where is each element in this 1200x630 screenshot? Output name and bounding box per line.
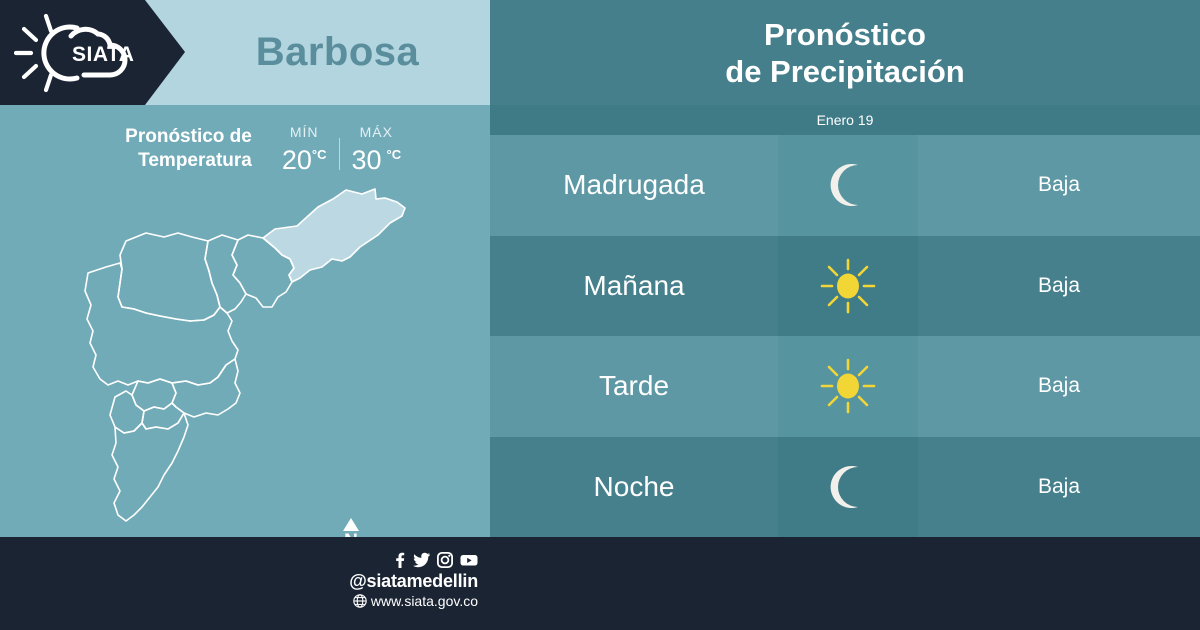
social-icons	[330, 552, 478, 568]
map-municipality-envigado[interactable]	[172, 359, 240, 417]
forecast-date: Enero 19	[490, 105, 1200, 135]
moon-icon	[823, 160, 873, 210]
forecast-probability-label: Baja	[1038, 173, 1080, 197]
forecast-period-cell: Tarde	[490, 336, 778, 437]
forecast-probability-cell: Baja	[918, 336, 1200, 437]
siata-logo-text: SIATA	[72, 43, 134, 66]
left-header: SIATA Barbosa	[0, 0, 490, 105]
social-handle[interactable]: @siatamedellin	[330, 570, 478, 592]
temperature-min-value: 20	[282, 145, 312, 175]
youtube-icon[interactable]	[460, 552, 478, 568]
temperature-max: MÁX 30°C	[340, 124, 414, 174]
table-row[interactable]: Mañana	[490, 236, 1200, 337]
footer: @siatamedellin www.siata.gov.co Con el a…	[0, 537, 1200, 630]
forecast-probability-label: Baja	[1038, 374, 1080, 398]
facebook-icon[interactable]	[392, 552, 406, 568]
forecast-probability-cell: Baja	[918, 236, 1200, 337]
right-panel: Pronóstico de Precipitación Enero 19 Mad…	[490, 0, 1200, 537]
forecast-icon-cell	[778, 236, 918, 337]
temperature-title: Pronóstico de Temperatura	[77, 125, 252, 173]
moon-icon	[823, 462, 873, 512]
temperature-min-label: MÍN	[282, 124, 327, 140]
table-row[interactable]: Noche Baja	[490, 437, 1200, 538]
left-panel: SIATA Barbosa Pronóstico de Temperatura …	[0, 0, 490, 537]
forecast-period-label: Tarde	[599, 370, 669, 402]
weather-infographic: SIATA Barbosa Pronóstico de Temperatura …	[0, 0, 1200, 630]
temperature-min-value-wrap: 20°C	[282, 145, 327, 175]
globe-icon	[353, 594, 367, 608]
map-municipality-copacabana[interactable]	[205, 235, 246, 313]
map-municipality-barbosa[interactable]	[263, 189, 405, 282]
precipitation-title-line2: de Precipitación	[725, 53, 964, 90]
forecast-probability-cell: Baja	[918, 135, 1200, 236]
temperature-forecast: Pronóstico de Temperatura MÍN 20°C MÁX 3…	[0, 118, 490, 180]
temperature-max-label: MÁX	[352, 124, 402, 140]
social-block: @siatamedellin www.siata.gov.co	[330, 552, 478, 610]
website-link[interactable]: www.siata.gov.co	[330, 592, 478, 610]
sun-icon	[820, 258, 876, 314]
temperature-title-line1: Pronóstico de	[125, 126, 252, 147]
temperature-max-value: 30	[352, 145, 382, 175]
map-municipality-caldas[interactable]	[112, 413, 188, 521]
temperature-max-value-wrap: 30°C	[352, 145, 402, 175]
forecast-table: Madrugada Baja Mañana	[490, 135, 1200, 537]
map-municipality-bello[interactable]	[118, 233, 220, 321]
forecast-probability-cell: Baja	[918, 437, 1200, 538]
table-row[interactable]: Madrugada Baja	[490, 135, 1200, 236]
compass-arrow-icon	[343, 518, 359, 531]
twitter-icon[interactable]	[413, 552, 430, 568]
forecast-icon-cell	[778, 336, 918, 437]
forecast-period-label: Mañana	[583, 270, 684, 302]
aburra-valley-map[interactable]: N	[60, 185, 440, 530]
temperature-max-unit: °C	[387, 147, 402, 162]
temperature-title-line2: Temperatura	[138, 150, 252, 171]
temperature-min: MÍN 20°C	[270, 124, 339, 174]
forecast-icon-cell	[778, 437, 918, 538]
website-text: www.siata.gov.co	[371, 592, 478, 610]
instagram-icon[interactable]	[437, 552, 453, 568]
temperature-values: MÍN 20°C MÁX 30°C	[270, 124, 413, 174]
precipitation-header: Pronóstico de Precipitación	[490, 0, 1200, 105]
forecast-period-cell: Mañana	[490, 236, 778, 337]
precipitation-title-line1: Pronóstico	[764, 16, 926, 53]
forecast-period-cell: Madrugada	[490, 135, 778, 236]
forecast-period-cell: Noche	[490, 437, 778, 538]
map-municipality-sabaneta[interactable]	[142, 403, 184, 429]
temperature-min-unit: °C	[312, 147, 327, 162]
forecast-probability-label: Baja	[1038, 475, 1080, 499]
city-title: Barbosa	[185, 0, 490, 105]
map-municipality-medellin[interactable]	[85, 263, 238, 385]
table-row[interactable]: Tarde	[490, 336, 1200, 437]
forecast-icon-cell	[778, 135, 918, 236]
forecast-period-label: Madrugada	[563, 169, 705, 201]
sun-cloud-icon: SIATA	[14, 12, 142, 94]
sun-icon	[820, 358, 876, 414]
forecast-probability-label: Baja	[1038, 274, 1080, 298]
forecast-period-label: Noche	[594, 471, 675, 503]
